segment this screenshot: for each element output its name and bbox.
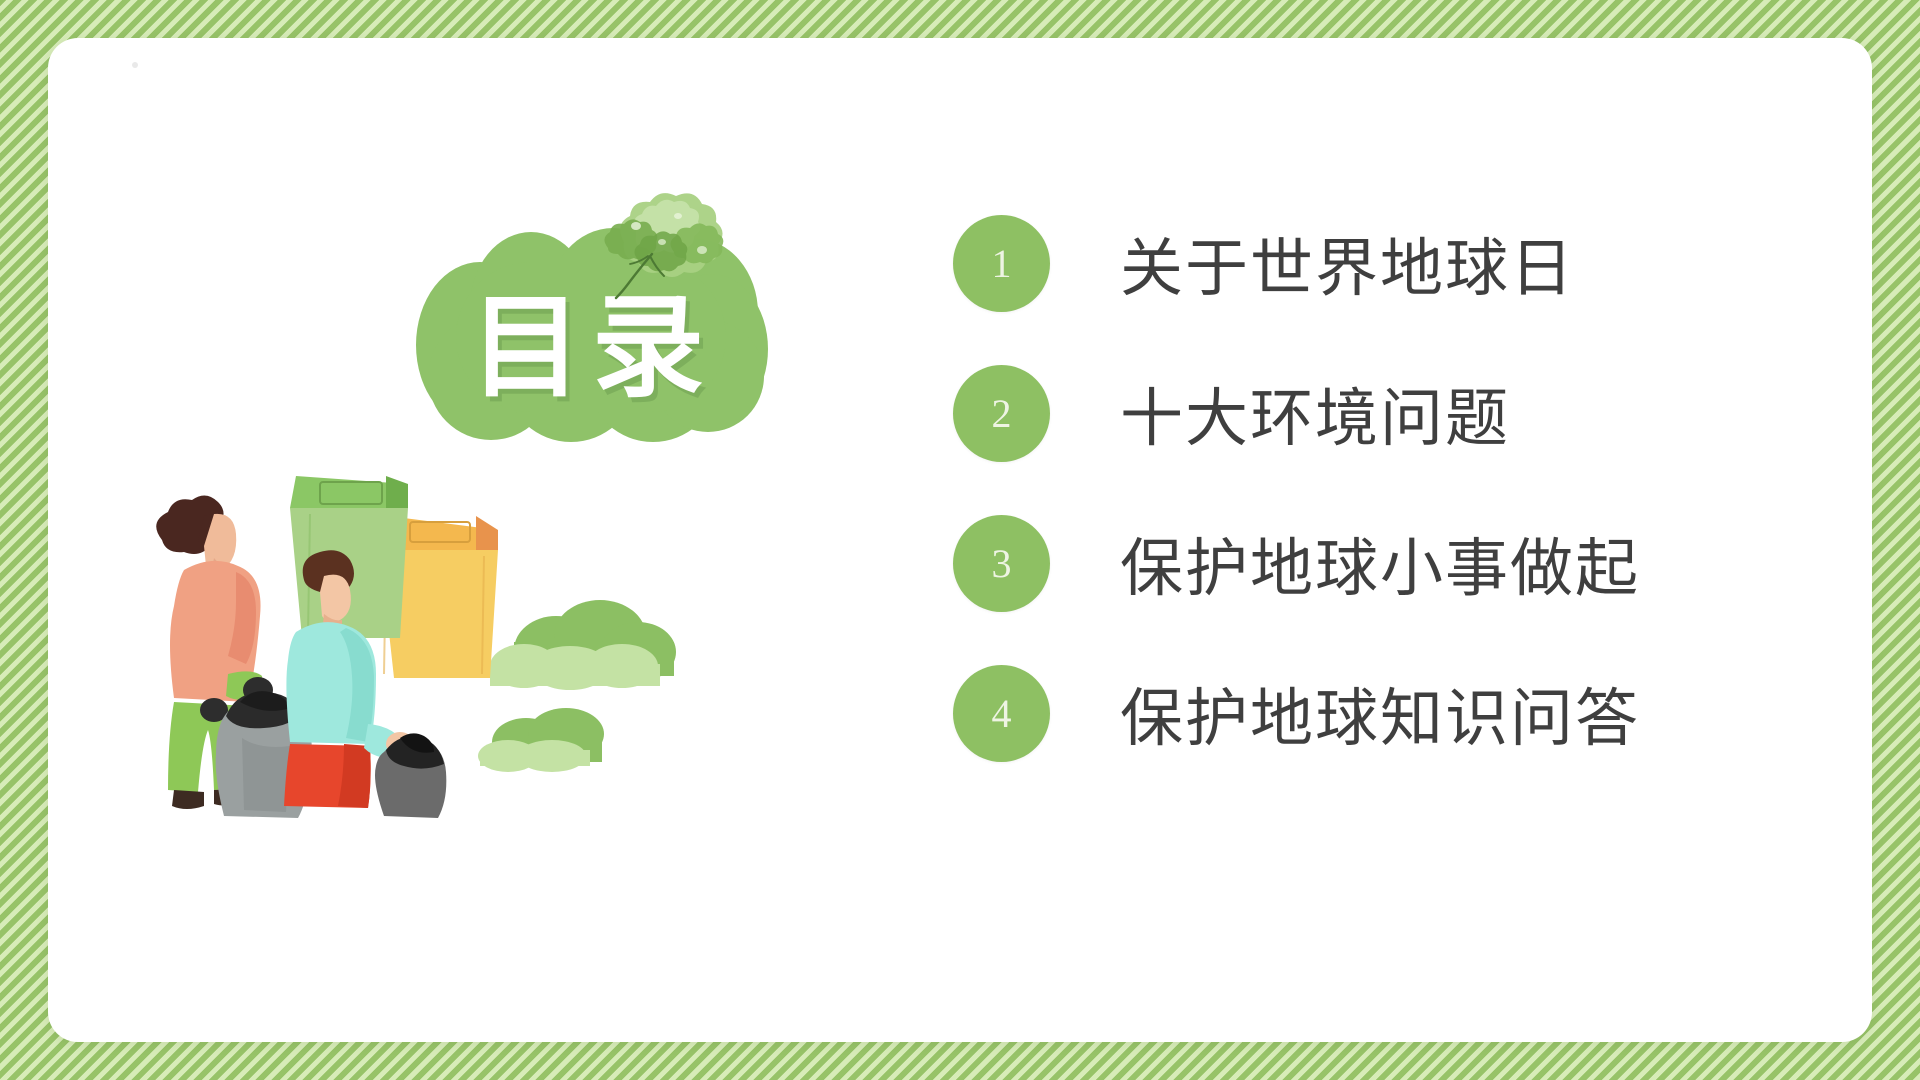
list-item[interactable]: 1 关于世界地球日 <box>953 188 1853 338</box>
left-visual-panel: 目录 <box>48 38 948 1042</box>
item-label: 保护地球知识问答 <box>1120 668 1640 759</box>
people-sorting-trash-illustration <box>118 438 738 818</box>
item-label: 保护地球小事做起 <box>1120 518 1640 609</box>
green-bush-large <box>490 600 676 690</box>
item-label: 十大环境问题 <box>1120 368 1510 459</box>
item-number-badge: 3 <box>953 515 1050 612</box>
item-number-badge: 2 <box>953 365 1050 462</box>
slide-canvas: 目录 <box>0 0 1920 1080</box>
list-item[interactable]: 3 保护地球小事做起 <box>953 488 1853 638</box>
watercolor-tree-icon <box>578 190 726 310</box>
item-number-badge: 4 <box>953 665 1050 762</box>
item-number-badge: 1 <box>953 215 1050 312</box>
contents-list: 1 关于世界地球日 2 十大环境问题 3 保护地球小事做起 4 保护地球知识问答 <box>953 188 1853 788</box>
green-recycling-bin <box>290 476 408 638</box>
green-bush-small <box>478 708 604 772</box>
slide-card: 目录 <box>48 38 1872 1042</box>
item-label: 关于世界地球日 <box>1120 218 1575 309</box>
list-item[interactable]: 2 十大环境问题 <box>953 338 1853 488</box>
list-item[interactable]: 4 保护地球知识问答 <box>953 638 1853 788</box>
